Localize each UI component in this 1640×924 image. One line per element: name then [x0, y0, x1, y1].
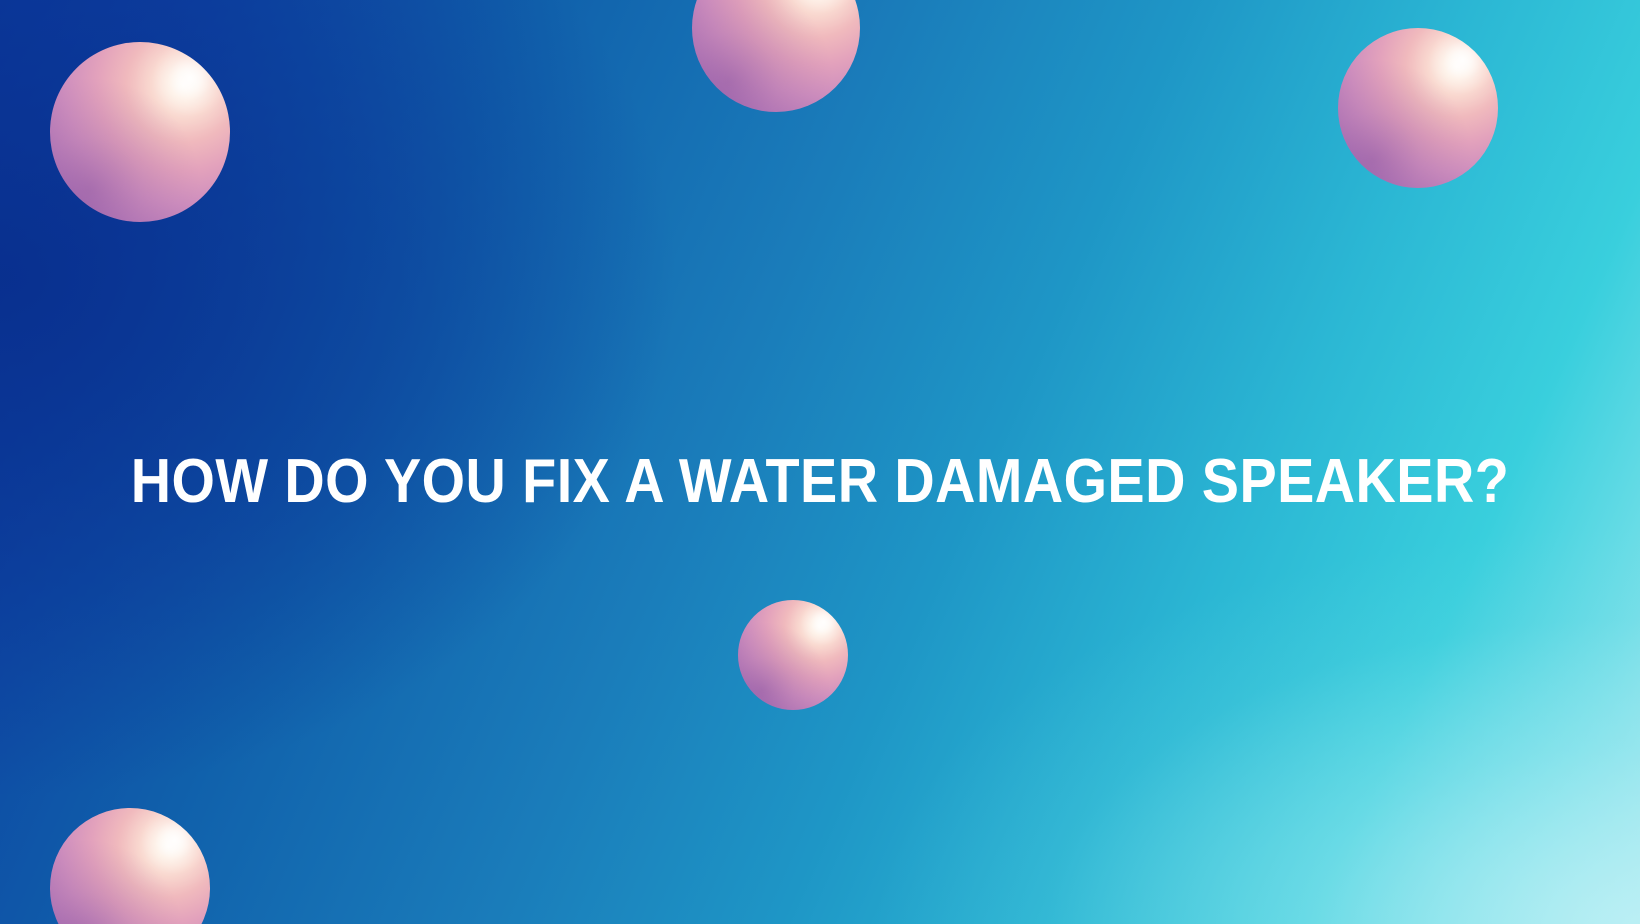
sphere-top-right [1338, 28, 1498, 188]
sphere-center-low [738, 600, 848, 710]
page-title: HOW DO YOU FIX A WATER DAMAGED SPEAKER? [82, 451, 1558, 513]
sphere-top-left [50, 42, 230, 222]
title-card: HOW DO YOU FIX A WATER DAMAGED SPEAKER? [0, 0, 1640, 924]
